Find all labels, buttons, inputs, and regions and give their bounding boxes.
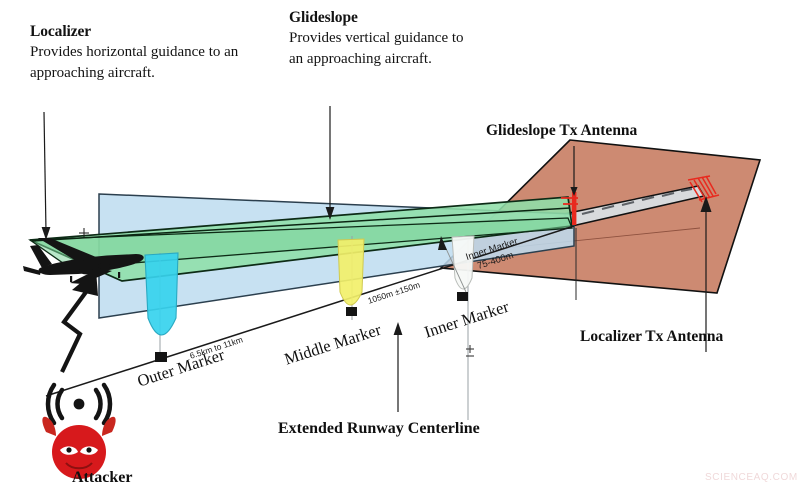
middle-marker-station <box>346 307 357 316</box>
middle-marker-cone <box>338 239 364 305</box>
callout-glideslope: Glideslope Provides vertical guidance to… <box>289 8 469 70</box>
attack-vector-arrow <box>62 292 86 372</box>
attacker-icon <box>42 385 115 479</box>
label-extended-runway-centerline: Extended Runway Centerline <box>278 420 480 438</box>
callout-glideslope-body: Provides vertical guidance to an approac… <box>289 28 469 70</box>
callout-glideslope-title: Glideslope <box>289 8 469 28</box>
callout-localizer: Localizer Provides horizontal guidance t… <box>30 22 240 84</box>
ils-diagram-page: Localizer Provides horizontal guidance t… <box>0 0 800 493</box>
callout-localizer-title: Localizer <box>30 22 240 42</box>
label-attacker: Attacker <box>72 469 132 487</box>
label-localizer-tx-antenna: Localizer Tx Antenna <box>580 328 723 346</box>
centerline-callout-arrow <box>394 322 403 335</box>
plus-minus-tick <box>466 345 474 356</box>
watermark-scienceaq: SCIENCEAQ.COM <box>705 472 798 483</box>
inner-marker-station <box>457 292 468 301</box>
localizer-callout-leader <box>44 112 46 232</box>
label-glideslope-tx-antenna: Glideslope Tx Antenna <box>486 122 637 140</box>
callout-localizer-body: Provides horizontal guidance to an appro… <box>30 42 240 84</box>
outer-marker-station <box>155 352 167 362</box>
outer-marker-cone <box>145 253 178 335</box>
